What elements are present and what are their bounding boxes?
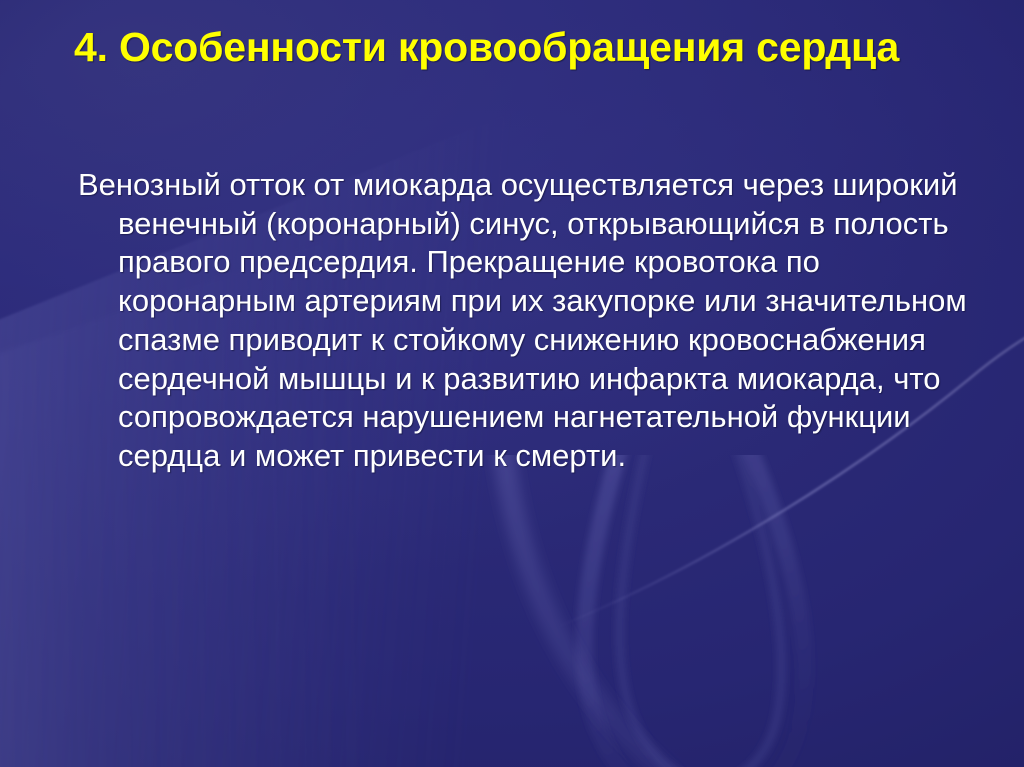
- slide-content: 4. Особенности кровообращения сердца Вен…: [0, 0, 1024, 767]
- presentation-slide: 4. Особенности кровообращения сердца Вен…: [0, 0, 1024, 767]
- slide-body-text: Венозный отток от миокарда осуществляетс…: [78, 166, 978, 476]
- slide-title: 4. Особенности кровообращения сердца: [74, 24, 954, 71]
- body-paragraph: Венозный отток от миокарда осуществляетс…: [78, 166, 978, 476]
